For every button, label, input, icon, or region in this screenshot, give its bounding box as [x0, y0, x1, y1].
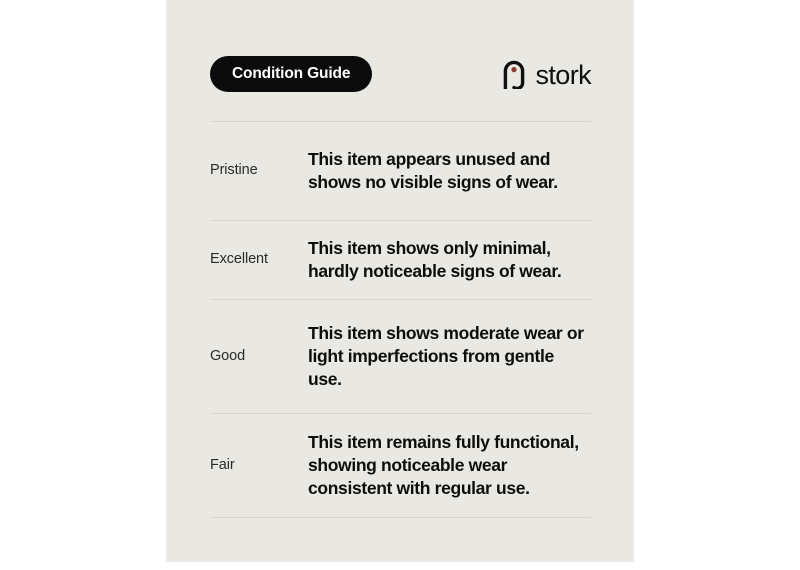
brand-lockup: stork	[502, 57, 591, 91]
page-root: Condition Guide stork Pristine This item…	[0, 0, 800, 570]
condition-description: This item appears unused and shows no vi…	[308, 148, 591, 195]
table-divider-bottom	[210, 517, 591, 518]
table-row: Excellent This item shows only minimal, …	[210, 221, 591, 299]
condition-label: Fair	[210, 457, 308, 474]
condition-label: Pristine	[210, 162, 308, 179]
table-row: Good This item shows moderate wear or li…	[210, 300, 591, 413]
condition-description: This item shows only minimal, hardly not…	[308, 237, 591, 284]
stork-arch-logo-icon	[502, 59, 526, 89]
condition-description: This item remains fully functional, show…	[308, 431, 591, 501]
condition-table: Pristine This item appears unused and sh…	[210, 121, 591, 518]
condition-description: This item shows moderate wear or light i…	[308, 322, 591, 392]
condition-guide-badge: Condition Guide	[210, 56, 372, 92]
brand-wordmark: stork	[535, 62, 591, 89]
condition-label: Excellent	[210, 251, 308, 268]
condition-label: Good	[210, 348, 308, 365]
table-row: Fair This item remains fully functional,…	[210, 414, 591, 517]
card-header: Condition Guide stork	[210, 56, 591, 92]
table-row: Pristine This item appears unused and sh…	[210, 122, 591, 220]
condition-guide-card: Condition Guide stork Pristine This item…	[166, 0, 634, 562]
